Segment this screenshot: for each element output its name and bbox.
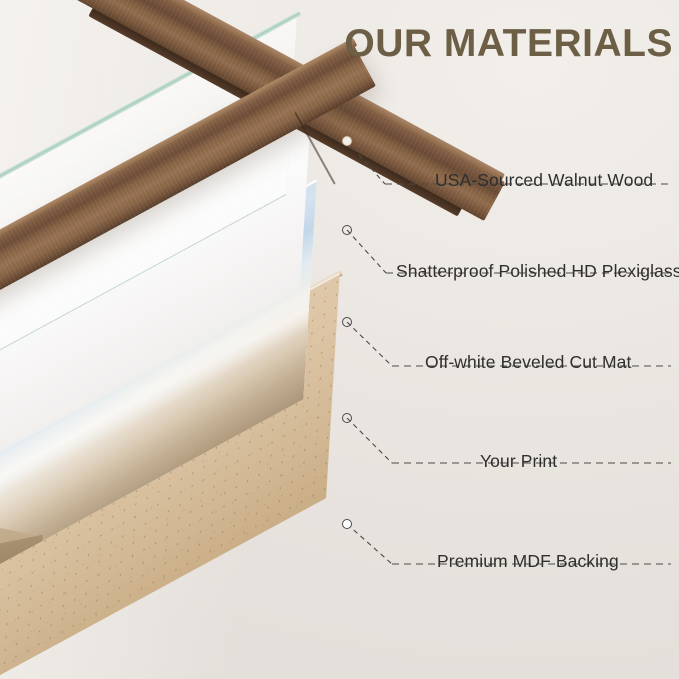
materials-infographic: OUR MATERIALS USA-Sourced Walnut Wood Sh… (0, 0, 679, 679)
callout-dot[interactable] (342, 136, 352, 146)
callout-dot[interactable] (342, 519, 352, 529)
callout-label: Off-white Beveled Cut Mat (425, 352, 631, 373)
callout-label: Your Print (480, 451, 557, 472)
callout-label: USA-Sourced Walnut Wood (435, 170, 653, 191)
callout-dot[interactable] (342, 413, 352, 423)
callout-dot[interactable] (342, 225, 352, 235)
product-illustration (0, 0, 420, 679)
page-title: OUR MATERIALS (344, 22, 673, 66)
callout-label: Shatterproof Polished HD Plexiglass (396, 261, 679, 282)
callout-label: Premium MDF Backing (437, 551, 619, 572)
callout-dot[interactable] (342, 317, 352, 327)
